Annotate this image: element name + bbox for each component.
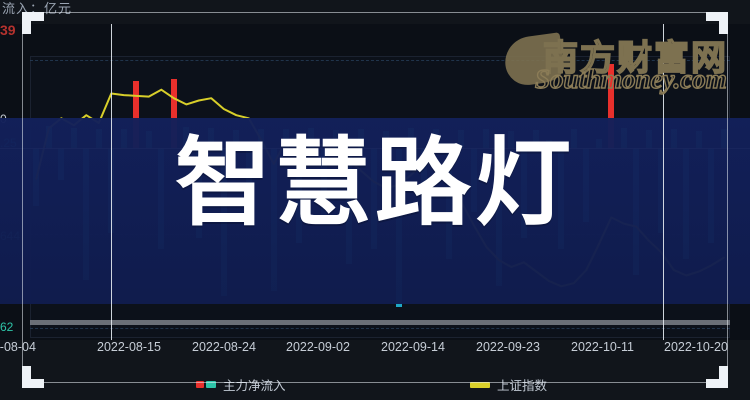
legend-label-net-inflow: 主力净流入 xyxy=(223,375,286,394)
overlay-title: 智慧路灯 xyxy=(0,128,750,238)
selection-handle-left-edge[interactable] xyxy=(22,12,31,34)
watermark-en-text: Southmoney.com xyxy=(535,64,727,95)
x-axis-label: 2022-08-04 xyxy=(0,340,36,354)
horizontal-scrollbar[interactable] xyxy=(30,320,730,325)
watermark: 南方财富网 Southmoney.com xyxy=(505,28,745,106)
x-axis: 2022-08-042022-08-152022-08-242022-09-02… xyxy=(0,340,750,366)
x-axis-label: 2022-09-14 xyxy=(381,340,445,354)
cropped-header-value: 39 xyxy=(0,22,16,38)
selection-handle-left-bottom-edge[interactable] xyxy=(22,366,31,388)
legend-label-index: 上证指数 xyxy=(497,375,547,394)
x-axis-label: 2022-10-11 xyxy=(571,340,634,354)
chart-legend: 主力净流入 上证指数 xyxy=(0,372,750,398)
legend-swatch-index xyxy=(470,382,490,388)
selection-handle-right-bottom-edge[interactable] xyxy=(719,366,728,388)
y-axis-label: 62 xyxy=(0,320,13,334)
selection-handle-right-edge[interactable] xyxy=(719,12,728,34)
legend-item-index[interactable]: 上证指数 xyxy=(470,375,547,394)
x-axis-label: 2022-08-15 xyxy=(97,340,161,354)
x-axis-label: 2022-09-23 xyxy=(476,340,540,354)
x-axis-label: 2022-09-02 xyxy=(286,340,350,354)
x-axis-label: 2022-10-20 xyxy=(664,340,728,354)
x-axis-label: 2022-08-24 xyxy=(192,340,256,354)
legend-item-net-inflow[interactable]: 主力净流入 xyxy=(196,375,286,394)
legend-swatch-net-inflow xyxy=(196,381,216,388)
screenshot-stage: 流入：亿元 0.2564462 2022-08-042022-08-152022… xyxy=(0,0,750,400)
